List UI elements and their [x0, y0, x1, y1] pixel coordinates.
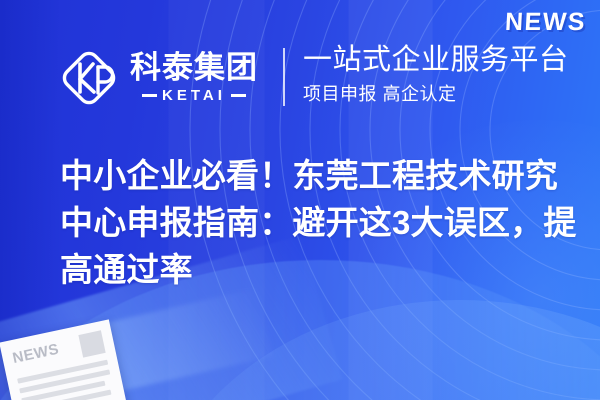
- brand-name-en-row: KETAI: [130, 87, 258, 104]
- newspaper-thumbnail-icon: [78, 330, 105, 357]
- wordmark-dash-right: [231, 94, 246, 97]
- news-label: NEWS: [504, 8, 587, 37]
- brand-logo[interactable]: 科泰集团 KETAI: [58, 42, 258, 114]
- news-banner: NEWS: [0, 0, 600, 400]
- brand-name-cn: 科泰集团: [130, 52, 258, 85]
- tagline-primary: 一站式企业服务平台: [303, 44, 593, 76]
- brand-name-en: KETAI: [162, 87, 226, 104]
- wordmark-dash-left: [142, 94, 157, 97]
- article-title: 中小企业必看！东莞工程技术研究中心申报指南：避开这3大误区，提高通过率: [60, 152, 580, 293]
- banner-header: NEWS: [0, 0, 600, 140]
- brand-tagline: 一站式企业服务平台 项目申报 高企认定: [303, 44, 593, 106]
- tagline-secondary: 项目申报 高企认定: [303, 80, 593, 106]
- newspaper-headline: NEWS: [11, 340, 61, 366]
- ketai-monogram-icon: [58, 47, 120, 109]
- header-divider: [283, 48, 285, 106]
- brand-wordmark: 科泰集团 KETAI: [130, 52, 258, 105]
